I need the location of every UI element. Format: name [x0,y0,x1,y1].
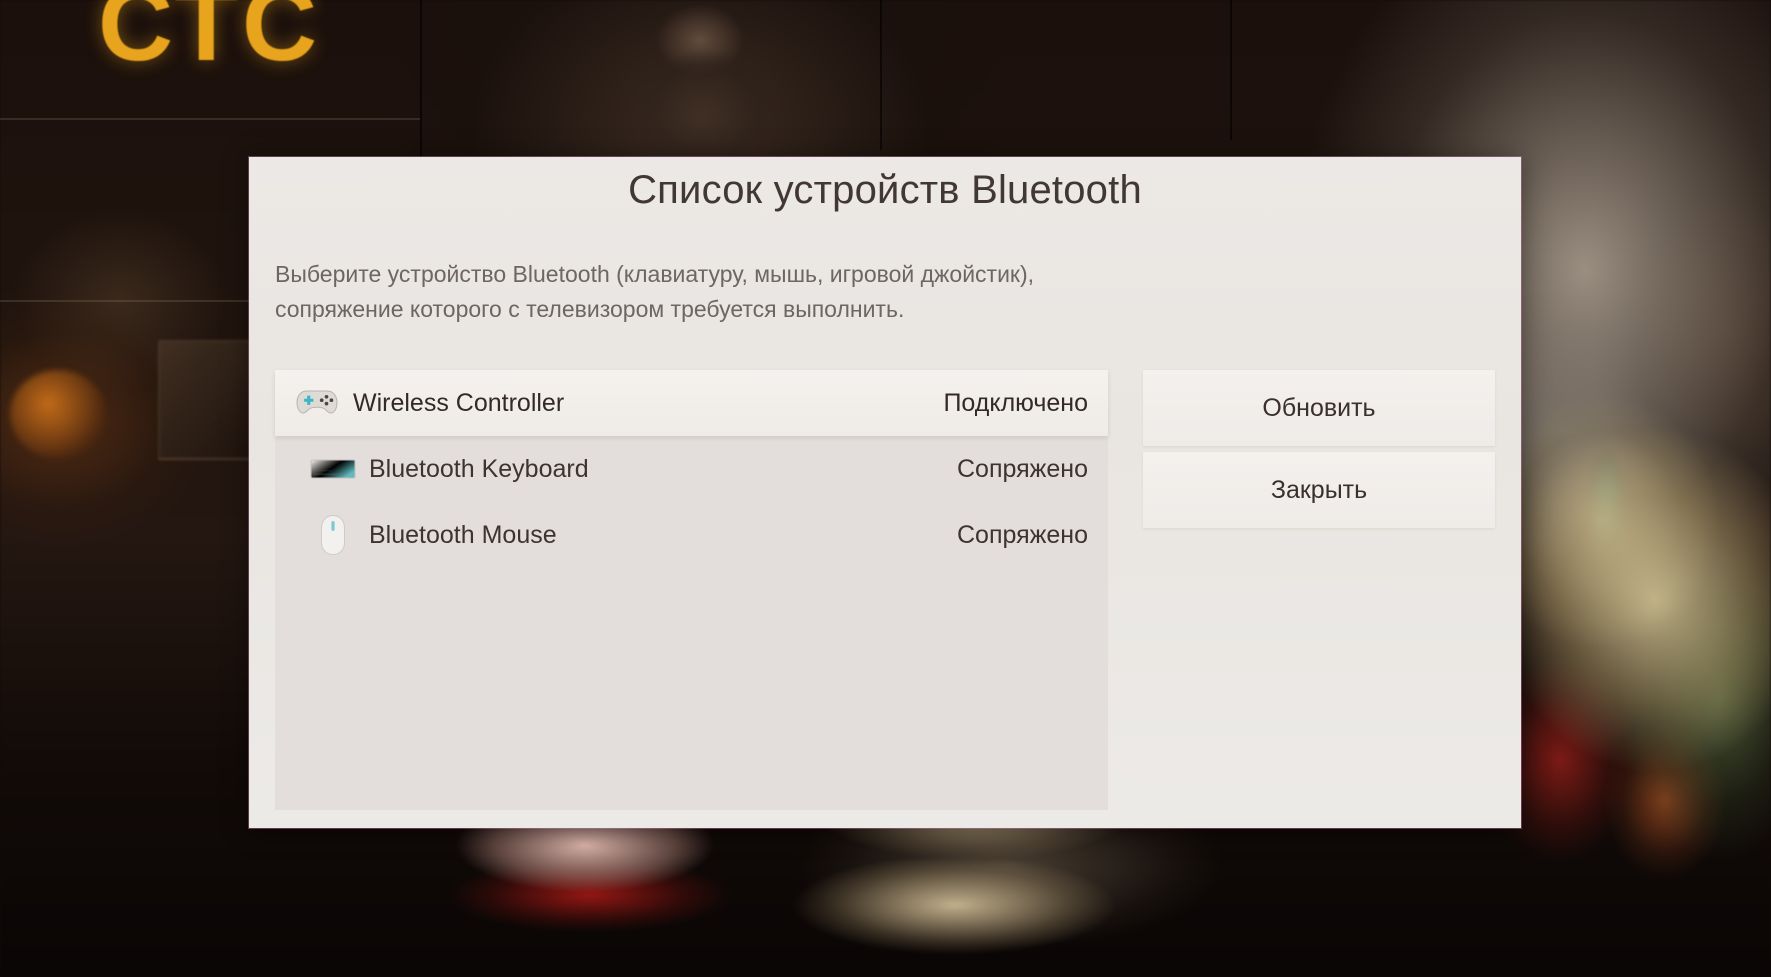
bluetooth-device-list-dialog: Список устройств Bluetooth Выберите устр… [249,157,1521,828]
device-status: Сопряжено [957,521,1088,550]
background-cabinet-seam [1230,0,1232,140]
device-row-bluetooth-keyboard[interactable]: Bluetooth Keyboard Сопряжено [275,436,1108,502]
background-shelf-line [0,118,420,120]
device-name: Bluetooth Keyboard [369,455,589,484]
background-shelf-line [0,300,250,302]
device-name: Wireless Controller [353,389,564,418]
keyboard-icon [309,447,357,491]
device-list-panel: Wireless Controller Подключено [275,370,1108,810]
background-cabinet-seam [880,0,882,150]
device-status: Сопряжено [957,455,1088,484]
gamepad-icon [293,381,341,425]
close-button[interactable]: Закрыть [1143,452,1495,528]
device-row-wireless-controller[interactable]: Wireless Controller Подключено [275,370,1108,436]
channel-logo: СТС [98,0,321,85]
background-pumpkin [10,370,106,458]
device-name: Bluetooth Mouse [369,521,557,550]
device-row-bluetooth-mouse[interactable]: Bluetooth Mouse Сопряжено [275,502,1108,568]
dialog-description: Выберите устройство Bluetooth (клавиатур… [275,257,1075,327]
device-status: Подключено [943,389,1088,418]
refresh-button[interactable]: Обновить [1143,370,1495,446]
dialog-actions: Обновить Закрыть [1143,370,1495,534]
mouse-icon [309,513,357,557]
dialog-title: Список устройств Bluetooth [249,168,1521,213]
